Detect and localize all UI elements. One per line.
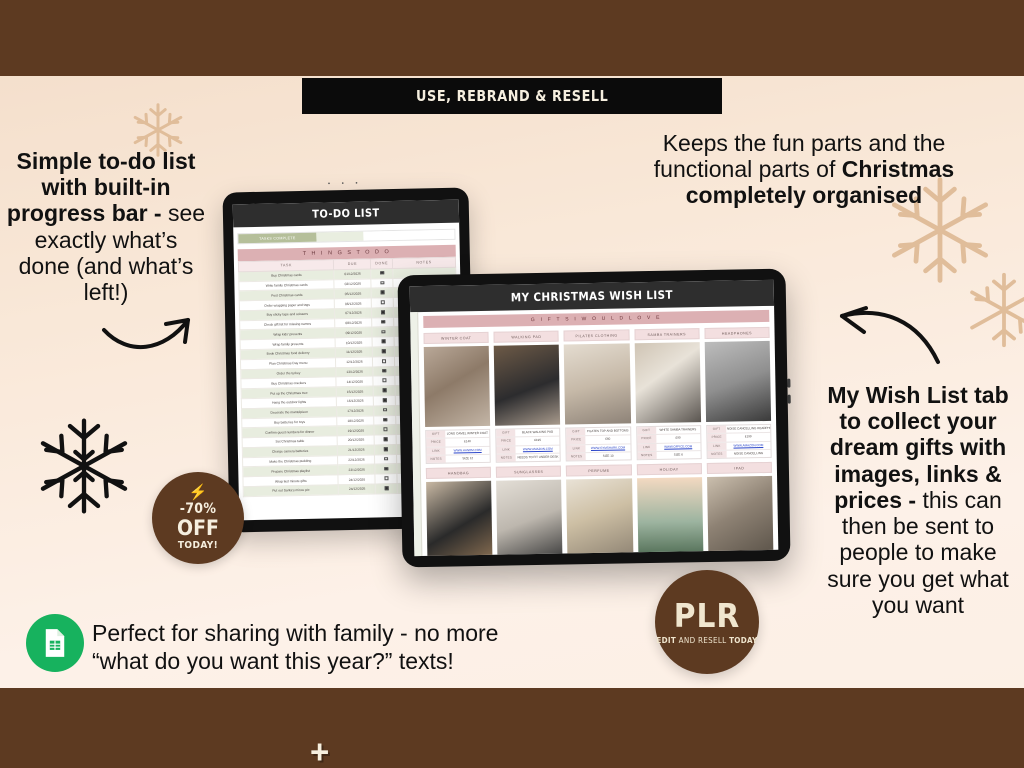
wishlist-card-photo (426, 481, 493, 556)
footer-plus-icon: + (310, 735, 329, 768)
todo-checkbox[interactable] (381, 340, 385, 344)
sub-badge: USE, REBRAND & RESELL (302, 78, 722, 114)
todo-checkbox[interactable] (384, 457, 388, 461)
wishlist-meta-key: NOTES (427, 455, 446, 463)
snowflake-icon-right-edge (962, 268, 1024, 352)
tablet-button-lower (788, 395, 791, 404)
plr-badge[interactable]: PLR EDIT AND RESELL TODAY (655, 570, 759, 674)
plr-sub-b: AND RESELL (676, 636, 729, 645)
wishlist-meta-value: SIZE 6 (656, 451, 700, 459)
wishlist-meta-row: NOTESNOISE CANCELLING (707, 450, 770, 458)
wishlist-card-label: WALKING PAD (494, 331, 559, 343)
curved-arrow-right (832, 300, 944, 372)
todo-cell-due: 24/12/2025 (339, 484, 376, 495)
wishlist-rows: WINTER COATGIFTLONG CAMEL WINTER COATPRI… (423, 327, 774, 556)
todo-checkbox[interactable] (383, 408, 387, 412)
wishlist-meta-value: WHITE SAMBA TRAINERS (656, 426, 700, 434)
wishlist-meta-key: NOTES (637, 452, 656, 460)
wishlist-card[interactable]: SAMBA TRAINERSGIFTWHITE SAMBA TRAINERSPR… (634, 328, 701, 460)
wishlist-meta-value[interactable]: WWW.OFFICE.COM (656, 443, 700, 451)
wishlist-meta-key: LINK (426, 447, 445, 455)
wishlist-meta-value: £90 (656, 435, 700, 443)
wishlist-card-meta: GIFTBLACK WALKING PADPRICE£195LINKWWW.AM… (495, 428, 561, 463)
todo-checkbox[interactable] (380, 281, 384, 285)
todo-progress-mid (316, 232, 364, 242)
todo-cell-done[interactable] (374, 425, 396, 435)
wishlist-meta-value: £140 (445, 438, 489, 446)
wishlist-meta-key: NOTES (707, 450, 726, 458)
todo-checkbox[interactable] (384, 467, 388, 471)
header-band (0, 0, 1024, 76)
wishlist-card-meta: GIFTWHITE SAMBA TRAINERSPRICE£90LINKWWW.… (636, 425, 702, 460)
wishlist-card-meta: GIFTNOISE CANCELLING HEADPHONESPRICE£199… (706, 424, 772, 459)
callout-sheets: Perfect for sharing with family - no mor… (92, 620, 562, 675)
wishlist-meta-key: PRICE (567, 437, 586, 445)
wishlist-meta-row: NOTESNEEDS TO FIT UNDER DESK (497, 453, 560, 461)
wishlist-card[interactable]: HANDBAGGIFTJACQUEMUS HANDBAGPRICE£380LIN… (426, 467, 493, 556)
wishlist-meta-value[interactable]: WWW.AMAZON.COM (726, 441, 770, 449)
discount-off-label: OFF (177, 517, 219, 539)
callout-right: My Wish List tab to collect your dream g… (818, 382, 1018, 618)
wishlist-meta-value: BLACK WALKING PAD (515, 429, 559, 437)
todo-checkbox[interactable] (381, 320, 385, 324)
plr-sub-c: TODAY (729, 636, 758, 645)
lightning-bolt-icon: ⚡ (189, 485, 208, 500)
wishlist-meta-key: GIFT (707, 426, 726, 434)
todo-cell-done[interactable] (374, 435, 396, 445)
wishlist-meta-row: NOTESSIZE 10 (567, 452, 630, 460)
wishlist-card-photo (496, 480, 563, 556)
callout-sheets-line2: “what do you want this year?” texts! (92, 648, 454, 674)
wishlist-screen: MY CHRISTMAS WISH LIST G I F T S I W O U… (410, 280, 779, 556)
wishlist-card[interactable]: HEADPHONESGIFTNOISE CANCELLING HEADPHONE… (704, 327, 771, 459)
wishlist-meta-key: LINK (497, 446, 516, 454)
wishlist-card-photo (707, 476, 774, 556)
todo-cell-done[interactable] (373, 386, 395, 396)
wishlist-card[interactable]: HOLIDAYGIFTBEACH HOLIDAYPRICE£1,200LINKN… (636, 463, 703, 556)
todo-checkbox[interactable] (380, 271, 384, 275)
wishlist-meta-value[interactable]: WWW.AMAZON.COM (516, 445, 560, 453)
wishlist-meta-value: SIZE 10 (586, 452, 630, 460)
wishlist-meta-value: NOISE CANCELLING HEADPHONES (726, 425, 770, 433)
wishlist-meta-key: GIFT (637, 427, 656, 435)
wishlist-meta-value: PILATES TOP AND BOTTOMS (586, 428, 630, 436)
wishlist-card[interactable]: WALKING PADGIFTBLACK WALKING PADPRICE£19… (494, 331, 561, 463)
todo-checkbox[interactable] (385, 486, 389, 490)
callout-left: Simple to-do list with built-in progress… (6, 148, 206, 305)
wishlist-card-photo (705, 341, 772, 422)
todo-cell-done[interactable] (371, 288, 393, 298)
wishlist-card-photo (634, 342, 701, 423)
todo-cell-done[interactable] (372, 327, 394, 337)
wishlist-meta-value[interactable]: WWW.HANDM.COM (445, 446, 489, 454)
wishlist-card-label: HOLIDAY (636, 463, 701, 475)
todo-checkbox[interactable] (382, 379, 386, 383)
todo-checkbox[interactable] (381, 310, 385, 314)
todo-checkbox[interactable] (383, 418, 387, 422)
wishlist-card-label: WINTER COAT (423, 332, 488, 344)
todo-title: TO-DO LIST (233, 200, 459, 228)
footer-band (0, 688, 1024, 768)
todo-cell-done[interactable] (375, 474, 397, 484)
wishlist-card-label: PILATES CLOTHING (564, 329, 629, 341)
google-sheets-icon (26, 614, 84, 672)
wishlist-card-label: HEADPHONES (704, 327, 769, 339)
todo-checkbox[interactable] (382, 359, 386, 363)
wishlist-section-top: G I F T S I W O U L D L O V E (423, 310, 769, 328)
wishlist-card-photo (564, 344, 631, 425)
wishlist-meta-row: NOTESSIZE 6 (637, 451, 700, 459)
todo-cell-done[interactable] (374, 405, 396, 415)
todo-cell-done[interactable] (371, 268, 393, 278)
todo-progress-rest (364, 230, 455, 241)
wishlist-meta-key: LINK (637, 443, 656, 451)
wishlist-meta-value: £195 (515, 437, 559, 445)
wishlist-card-label: PERFUME (566, 464, 631, 476)
todo-cell-done[interactable] (374, 415, 396, 425)
wishlist-meta-value: LONG CAMEL WINTER COAT (445, 430, 489, 438)
plr-label: PLR (674, 599, 741, 632)
wishlist-meta-key: LINK (567, 445, 586, 453)
todo-cell-done[interactable] (372, 298, 394, 308)
todo-progress-fill: TASKS COMPLETE (238, 233, 316, 244)
tablet-wish-list: MY CHRISTMAS WISH LIST G I F T S I W O U… (397, 269, 790, 568)
wishlist-card-photo (637, 477, 704, 556)
wishlist-card-label: SAMBA TRAINERS (634, 328, 699, 340)
wishlist-meta-key: PRICE (497, 438, 516, 446)
wishlist-row: WINTER COATGIFTLONG CAMEL WINTER COATPRI… (423, 327, 771, 464)
todo-checkbox[interactable] (383, 428, 387, 432)
sub-badge-label: USE, REBRAND & RESELL (416, 87, 608, 105)
plr-sub-a: EDIT (656, 636, 676, 645)
discount-today-label: TODAY! (178, 540, 218, 551)
wishlist-meta-value: £199 (726, 433, 770, 441)
plr-subtitle: EDIT AND RESELL TODAY (656, 636, 757, 645)
wishlist-meta-key: NOTES (497, 454, 516, 462)
wishlist-meta-key: PRICE (426, 439, 445, 447)
todo-progress-label: TASKS COMPLETE (259, 236, 296, 241)
wishlist-card[interactable]: PILATES CLOTHINGGIFTPILATES TOP AND BOTT… (564, 329, 631, 461)
wishlist-body-wrap: G I F T S I W O U L D L O V E WINTER COA… (410, 306, 778, 556)
wishlist-card-label: IPAD (707, 462, 772, 474)
wishlist-card[interactable]: IPADGIFTROSE GOLD IPADPRICE£1,099LINKWWW… (707, 462, 774, 556)
todo-cell-done[interactable] (375, 464, 397, 474)
todo-checkbox[interactable] (380, 291, 384, 295)
todo-checkbox[interactable] (381, 300, 385, 304)
wishlist-row: HANDBAGGIFTJACQUEMUS HANDBAGPRICE£380LIN… (426, 462, 774, 556)
wishlist-card-meta: GIFTLONG CAMEL WINTER COATPRICE£140LINKW… (425, 429, 491, 464)
wishlist-meta-key: GIFT (567, 428, 586, 436)
curved-arrow-left (100, 300, 200, 362)
wishlist-card[interactable]: WINTER COATGIFTLONG CAMEL WINTER COATPRI… (423, 332, 490, 464)
wishlist-meta-key: GIFT (426, 431, 445, 439)
callout-sheets-line1: Perfect for sharing with family - no mor… (92, 620, 498, 646)
wishlist-card[interactable]: SUNGLASSESGIFTBLACK SUNGLASSESPRICE£150L… (496, 466, 563, 557)
todo-progress-bar: TASKS COMPLETE (237, 229, 455, 245)
todo-cell-done[interactable] (375, 444, 397, 454)
todo-cell-done[interactable] (372, 317, 394, 327)
todo-col-done: DONE (371, 259, 393, 269)
todo-cell-done[interactable] (374, 395, 396, 405)
todo-checkbox[interactable] (382, 349, 386, 353)
callout-top-right: Keeps the fun parts and the functional p… (618, 130, 990, 209)
tablet-button-upper (787, 379, 790, 388)
tablet-camera-dots: • • • (222, 178, 468, 189)
wishlist-card[interactable]: PERFUMEGIFTCHANEL CHANCEPRICE£120LINKWWW… (566, 464, 633, 556)
todo-cell-done[interactable] (375, 454, 397, 464)
todo-checkbox[interactable] (383, 398, 387, 402)
todo-cell-done[interactable] (375, 483, 397, 493)
wishlist-meta-row: NOTESSIZE 12 (427, 455, 490, 463)
wishlist-card-photo (424, 346, 491, 427)
todo-cell-done[interactable] (373, 366, 395, 376)
todo-cell-task: Put out Santa's mince pie (243, 485, 339, 497)
wishlist-meta-value[interactable]: WWW.GYMSHARK.COM (586, 444, 630, 452)
wishlist-card-photo (494, 345, 561, 426)
todo-cell-done[interactable] (373, 356, 395, 366)
todo-checkbox[interactable] (384, 476, 388, 480)
discount-percent: -70% (180, 501, 217, 517)
wishlist-meta-key: GIFT (496, 430, 515, 438)
wishlist-meta-key: LINK (707, 442, 726, 450)
wishlist-meta-key: NOTES (567, 453, 586, 461)
wishlist-card-label: SUNGLASSES (496, 466, 561, 478)
todo-checkbox[interactable] (381, 330, 385, 334)
wishlist-meta-value: SIZE 12 (446, 455, 490, 463)
todo-checkbox[interactable] (384, 447, 388, 451)
wishlist-body: G I F T S I W O U L D L O V E WINTER COA… (418, 306, 778, 556)
todo-cell-done[interactable] (372, 337, 394, 347)
wishlist-meta-key: PRICE (707, 434, 726, 442)
todo-checkbox[interactable] (384, 437, 388, 441)
discount-badge[interactable]: ⚡ -70% OFF TODAY! (152, 472, 244, 564)
todo-cell-done[interactable] (373, 376, 395, 386)
wishlist-card-label: HANDBAG (426, 467, 491, 479)
todo-checkbox[interactable] (383, 388, 387, 392)
wishlist-card-meta: GIFTPILATES TOP AND BOTTOMSPRICE£60LINKW… (566, 427, 632, 462)
wishlist-meta-key: PRICE (637, 435, 656, 443)
wishlist-meta-value: NOISE CANCELLING (726, 450, 770, 458)
wishlist-card-photo (566, 478, 633, 556)
wishlist-meta-value: NEEDS TO FIT UNDER DESK (516, 453, 560, 461)
todo-cell-done[interactable] (373, 347, 395, 357)
snowflake-icon-left-large (30, 412, 138, 520)
todo-cell-done[interactable] (372, 307, 394, 317)
wishlist-meta-value: £60 (586, 436, 630, 444)
todo-checkbox[interactable] (382, 369, 386, 373)
todo-cell-done[interactable] (371, 278, 393, 288)
